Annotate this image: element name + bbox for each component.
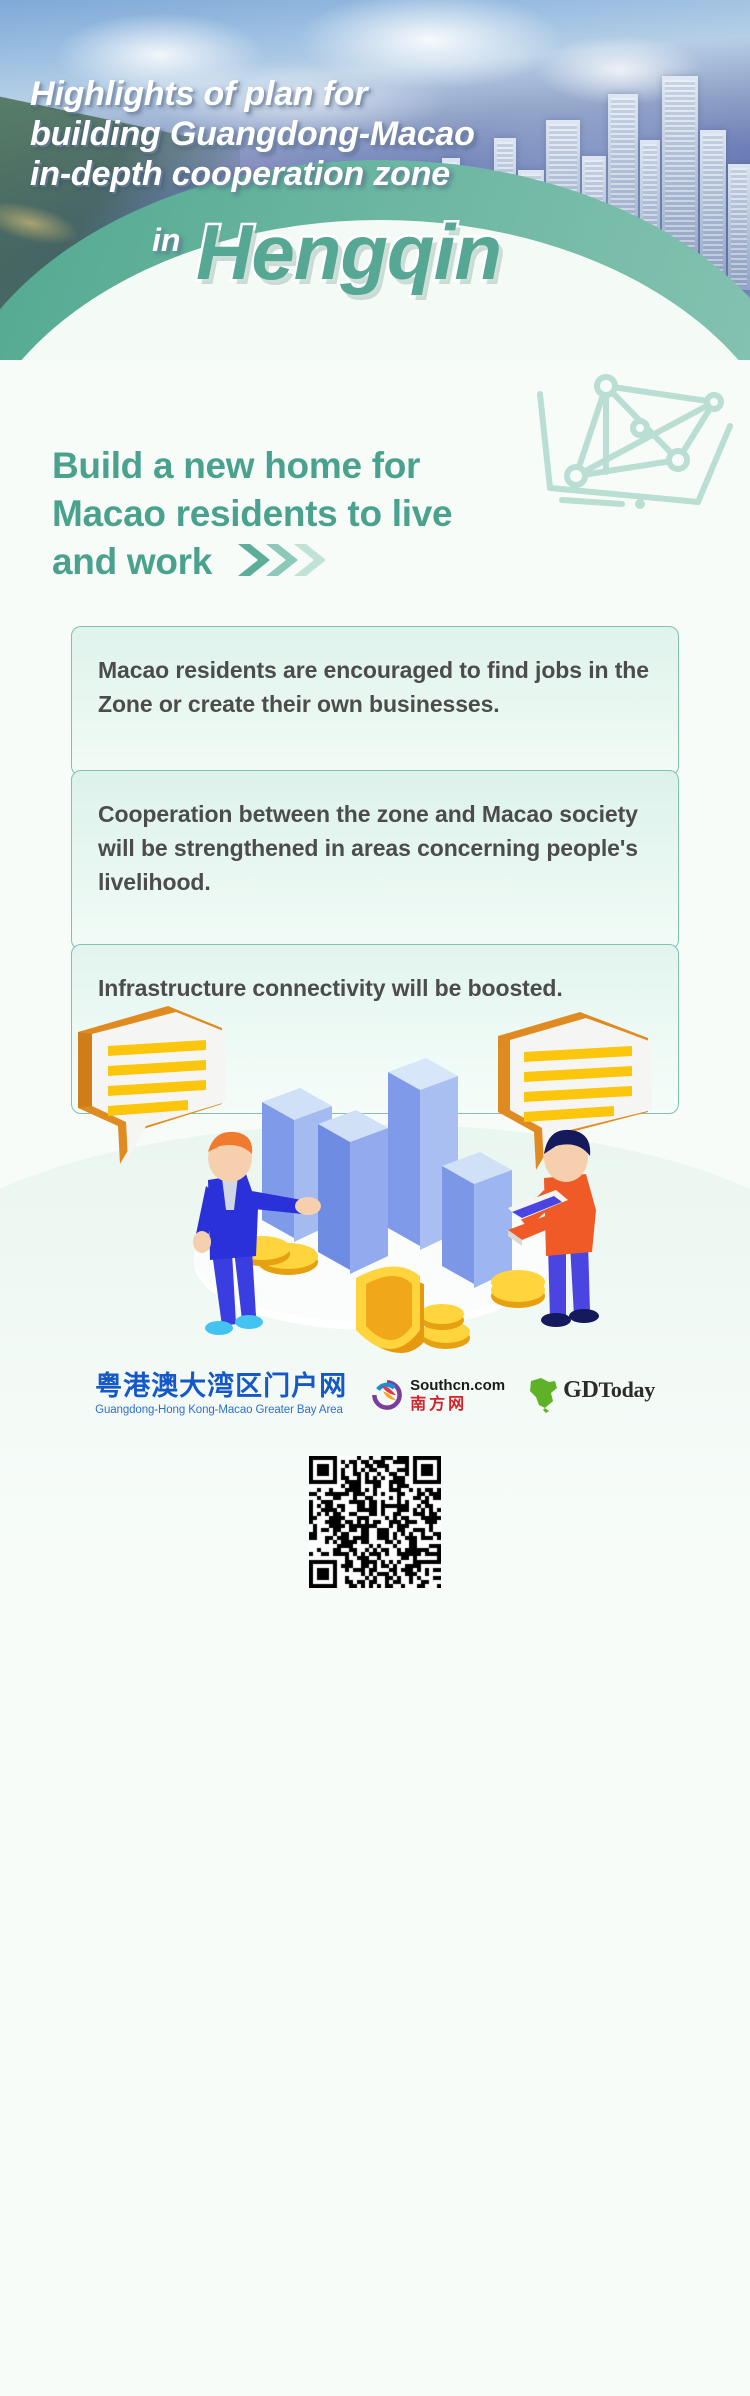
isometric-business-growth-illustration [0,994,750,1354]
qr-code[interactable] [309,1456,441,1588]
hero-banner: Highlights of plan for building Guangdon… [0,0,750,360]
qr-code-wrapper [0,1456,750,1588]
gold-coins-stack [491,1270,545,1308]
footer: 粤港澳大湾区门户网 Guangdong-Hong Kong-Macao Grea… [0,1354,750,1588]
page-title-line-1: Highlights of plan for [30,74,720,114]
southcn-logo-text: Southcn.com 南方网 [410,1377,505,1413]
main-content: Build a new home for Macao residents to … [0,360,750,1588]
southcn-swirl-icon [369,1377,405,1413]
southcn-logo-line2: 南方网 [410,1394,505,1413]
page-title-preposition: in [152,222,180,258]
network-nodes-icon [528,368,738,518]
page-title-line-2: building Guangdong-Macao [30,114,720,154]
highlight-card-text: Macao residents are encouraged to find j… [98,653,652,721]
page-title-place: Hengqin [196,210,501,294]
page-title: Highlights of plan for building Guangdon… [30,74,720,194]
gba-portal-logo[interactable]: 粤港澳大湾区门户网 Guangdong-Hong Kong-Macao Grea… [95,1372,347,1418]
triple-chevron-right-icon [236,540,332,592]
gold-coins-stack [420,1304,470,1349]
gdtoday-logo-gd: GD [563,1377,598,1403]
section-heading: Build a new home for Macao residents to … [52,442,522,592]
highlight-card-text: Cooperation between the zone and Macao s… [98,797,652,899]
highlight-card[interactable]: Macao residents are encouraged to find j… [71,626,679,776]
gba-portal-logo-en: Guangdong-Hong Kong-Macao Greater Bay Ar… [95,1403,347,1418]
gold-shield-icon [356,1266,424,1353]
footer-logo-row: 粤港澳大湾区门户网 Guangdong-Hong Kong-Macao Grea… [0,1372,750,1418]
southcn-logo-line1: Southcn.com [410,1377,505,1394]
highlight-card[interactable]: Cooperation between the zone and Macao s… [71,770,679,950]
speech-bubble-left-icon [78,1006,226,1164]
gdtoday-logo-text: GDToday [563,1375,655,1405]
guangdong-map-icon [527,1375,561,1415]
page-title-line-3: in-depth cooperation zone [30,154,720,194]
gdtoday-logo-today: Today [599,1377,655,1402]
southcn-logo[interactable]: Southcn.com 南方网 [369,1377,505,1413]
gba-portal-logo-cn: 粤港澳大湾区门户网 [95,1372,347,1402]
gdtoday-logo[interactable]: GDToday [527,1375,655,1415]
